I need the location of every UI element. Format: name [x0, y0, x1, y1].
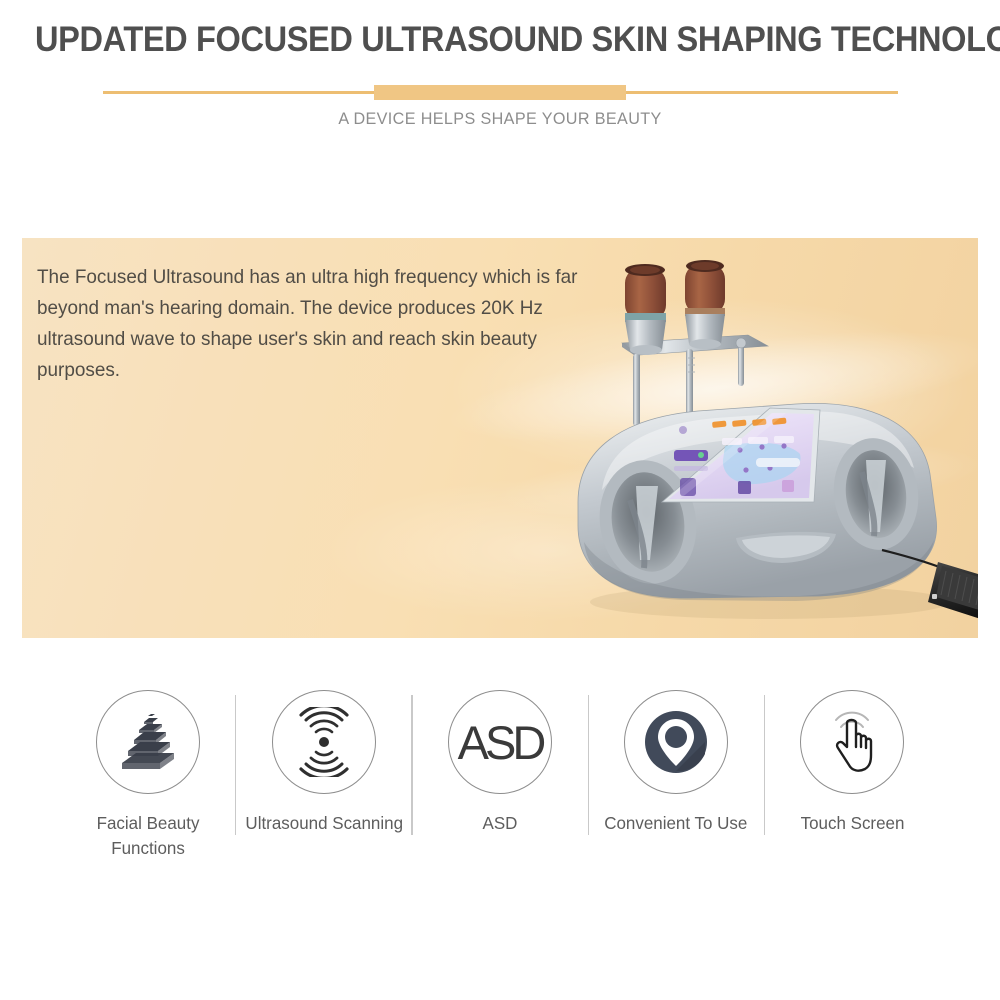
page-subtitle: A DEVICE HELPS SHAPE YOUR BEAUTY: [25, 109, 975, 129]
feature-item-asd[interactable]: ASD ASD: [413, 690, 588, 836]
wave-center-dot: [319, 737, 329, 747]
feature-item-ultrasound-scanning[interactable]: Ultrasound Scanning: [236, 690, 411, 836]
feature-label: ASD: [483, 811, 518, 836]
feature-item-facial-beauty[interactable]: Facial BeautyFunctions: [60, 690, 235, 861]
handpiece-left: [625, 264, 666, 355]
ultrasound-wave-icon: [291, 707, 357, 777]
feature-circle: [272, 690, 376, 794]
ultrasound-machine-image: [570, 250, 978, 638]
product-banner: The Focused Ultrasound has an ultra high…: [22, 238, 978, 638]
handpiece-right: [685, 260, 725, 349]
asd-icon: ASD: [458, 715, 543, 770]
feature-circle: [624, 690, 728, 794]
feature-label: Facial BeautyFunctions: [96, 811, 199, 861]
feature-item-convenient-to-use[interactable]: Convenient To Use: [589, 690, 764, 836]
feature-list: Facial BeautyFunctions Ultrasound Scanni…: [0, 690, 1000, 910]
touch-hand-icon: [821, 707, 883, 777]
feature-circle: [800, 690, 904, 794]
page-header: UPDATED FOCUSED ULTRASOUND SKIN SHAPING …: [0, 0, 1000, 129]
machine-svg: [570, 250, 978, 638]
title-divider: [103, 81, 898, 103]
map-pin-icon: [642, 708, 710, 776]
pyramid-icon: [112, 711, 184, 773]
feature-circle: ASD: [448, 690, 552, 794]
feature-label: Convenient To Use: [605, 811, 748, 836]
feature-item-touch-screen[interactable]: Touch Screen: [765, 690, 940, 836]
divider-center-block: [374, 85, 626, 100]
page-title: UPDATED FOCUSED ULTRASOUND SKIN SHAPING …: [35, 22, 965, 59]
intro-paragraph: The Focused Ultrasound has an ultra high…: [37, 262, 619, 386]
feature-label: Ultrasound Scanning: [245, 811, 403, 836]
feature-circle: [96, 690, 200, 794]
feature-label: Touch Screen: [800, 811, 904, 836]
